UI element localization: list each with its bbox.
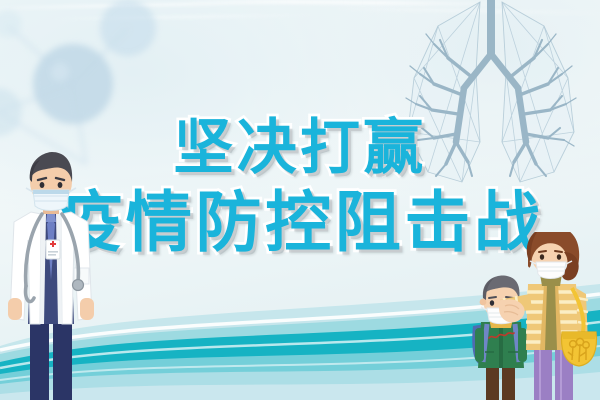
woman-hand bbox=[495, 296, 529, 326]
poster-canvas: 坚决打赢 疫情防控阻击战 bbox=[0, 0, 600, 400]
doctor-figure bbox=[0, 148, 104, 400]
lungs-wireframe-icon bbox=[376, 0, 600, 197]
